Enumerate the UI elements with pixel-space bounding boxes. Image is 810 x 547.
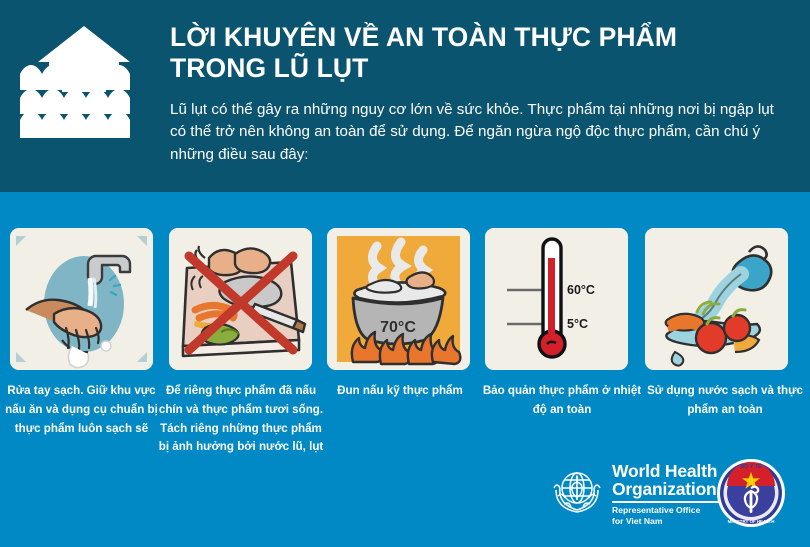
thermometer-icon: 60°C 5°C	[485, 228, 628, 370]
who-divider	[612, 501, 728, 502]
temperature-label-low: 5°C	[567, 317, 588, 331]
tip-caption-wash-hands: Rửa tay sạch. Giữ khu vực nấu ăn và dụng…	[0, 382, 163, 438]
tip-card-safe-temperature: 60°C 5°C	[485, 228, 628, 370]
tip-card-cook-thoroughly: 70°C	[327, 228, 470, 370]
cutting-board-crossed-out-icon	[169, 228, 312, 370]
tip-caption-safe-temperature: Bảo quản thực phẩm ở nhiệt độ an toàn	[477, 382, 647, 420]
page-title-line-1: LỜI KHUYÊN VỀ AN TOÀN THỰC PHẨM	[170, 22, 790, 53]
vietnam-ministry-of-health-icon: BỘ Y TẾ MINISTRY OF HEALTH	[716, 458, 786, 528]
page-title: LỜI KHUYÊN VỀ AN TOÀN THỰC PHẨM TRONG LŨ…	[170, 22, 790, 85]
who-sub-line-2: for Viet Nam	[612, 516, 728, 526]
header-banner: LỜI KHUYÊN VỀ AN TOÀN THỰC PHẨM TRONG LŨ…	[0, 0, 810, 192]
temperature-label-high: 60°C	[567, 283, 595, 297]
cooking-pot-flame-icon: 70°C	[327, 228, 470, 370]
tip-caption-separate-raw-cooked: Để riêng thực phẩm đã nấu chín và thực p…	[158, 382, 324, 457]
tip-card-wash-hands	[10, 228, 153, 370]
logo-row: World Health Organization Representative…	[548, 458, 798, 536]
who-emblem-icon	[548, 460, 606, 518]
who-name-line-2: Organization	[612, 480, 728, 498]
intro-paragraph: Lũ lụt có thể gây ra những nguy cơ lớn v…	[170, 99, 790, 167]
flood-house-waves-icon	[18, 22, 146, 142]
tip-card-safe-water-food	[645, 228, 788, 370]
tip-illustration-strip: 70°C 60°C 5°C	[0, 228, 810, 376]
pot-temperature-label: 70°C	[380, 319, 416, 336]
header-text-block: LỜI KHUYÊN VỀ AN TOÀN THỰC PHẨM TRONG LŨ…	[170, 22, 790, 167]
who-name-line-1: World Health	[612, 462, 728, 480]
tip-card-separate-raw-cooked	[169, 228, 312, 370]
who-sub-line-1: Representative Office	[612, 505, 728, 515]
handwashing-tap-icon	[10, 228, 153, 370]
pouring-water-vegetables-icon	[645, 228, 788, 370]
tip-caption-cook-thoroughly: Đun nấu kỹ thực phẩm	[322, 382, 478, 401]
moh-bottom-text: MINISTRY OF HEALTH	[728, 519, 775, 524]
page-title-line-2: TRONG LŨ LỤT	[170, 53, 790, 84]
tip-caption-safe-water-food: Sử dụng nước sạch và thực phẩm an toàn	[640, 382, 810, 420]
infographic-poster: LỜI KHUYÊN VỀ AN TOÀN THỰC PHẨM TRONG LŨ…	[0, 0, 810, 547]
who-logo: World Health Organization Representative…	[548, 460, 728, 526]
who-wordmark: World Health Organization Representative…	[612, 460, 728, 526]
moh-top-text: BỘ Y TẾ	[740, 462, 762, 470]
